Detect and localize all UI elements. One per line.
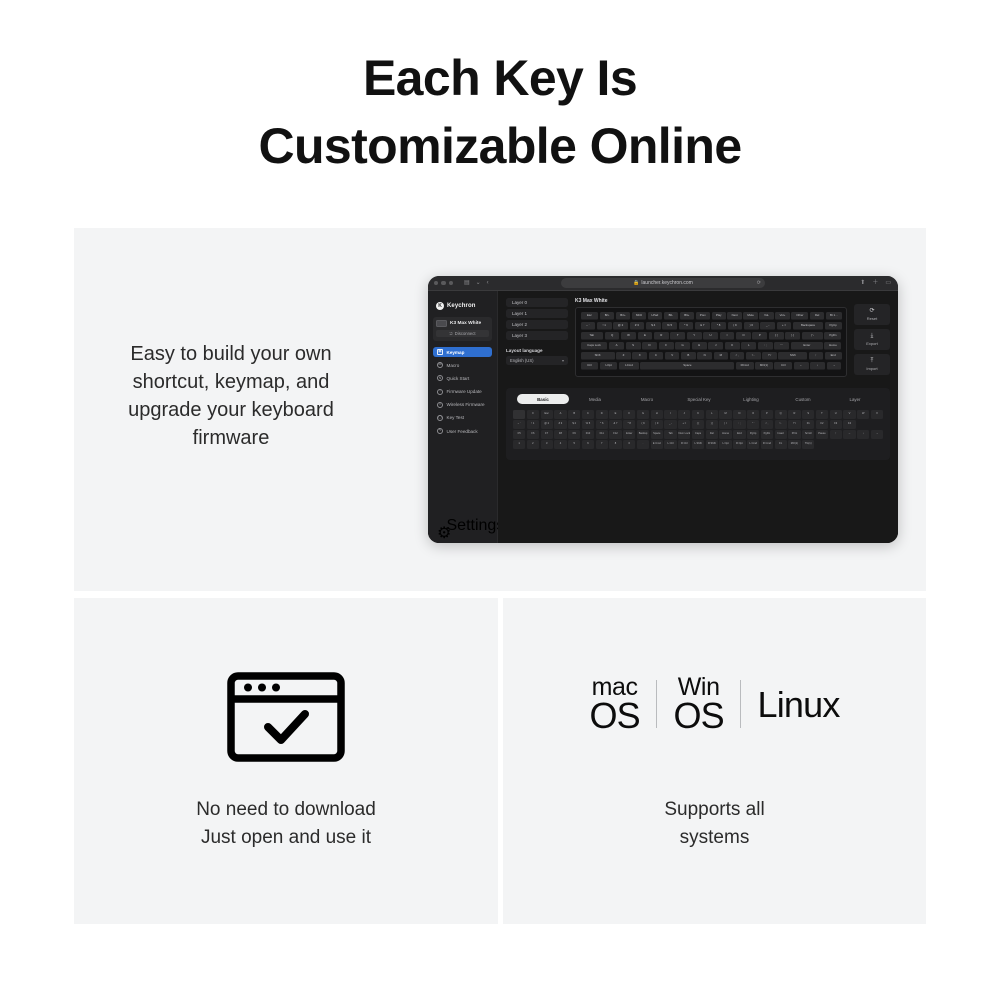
keyboard-key[interactable]: ( 9 — [728, 322, 743, 330]
sidebar-item-label: Firmware Update — [447, 389, 482, 394]
keyboard-key[interactable]: Mute — [743, 312, 757, 320]
keyboard-row: Caps LockASDFGHJKL: ;" 'EnterHome — [581, 342, 842, 350]
palette-key[interactable]: L Cmd — [747, 440, 759, 449]
keyboard-key[interactable]: RCmd — [736, 362, 754, 370]
palette-key[interactable]: F — [623, 410, 635, 419]
lock-icon: 🔒 — [633, 281, 639, 286]
palette-key[interactable]: . — [637, 440, 649, 449]
sidebar-item-firmware-update[interactable]: ↑Firmware Update — [433, 387, 492, 397]
palette-key[interactable]: E Cmd — [651, 440, 663, 449]
sidebar-item-label: Key Test — [447, 415, 465, 420]
import-button[interactable]: ⤒Import — [854, 354, 890, 375]
keyboard-key[interactable]: Play — [712, 312, 726, 320]
keyboard-key[interactable]: > . — [746, 352, 761, 360]
keyboard-key[interactable]: + = — [777, 322, 792, 330]
keyboard-key[interactable]: & 7 — [695, 322, 710, 330]
keyboard-thumb-icon — [436, 320, 447, 327]
palette-key[interactable]: J — [678, 410, 690, 419]
keyboard-key[interactable]: _ - — [760, 322, 775, 330]
palette-key[interactable]: R — [788, 410, 800, 419]
keyboard-key[interactable]: Enter — [791, 342, 823, 350]
keyboard-key[interactable]: Blt+ — [680, 312, 694, 320]
sidebar-item-macro[interactable]: MMacro — [433, 360, 492, 370]
keyboard-key[interactable]: ↓ — [810, 362, 825, 370]
keyboard-key[interactable]: { [ — [769, 332, 784, 340]
palette-key[interactable]: I — [664, 410, 676, 419]
keyboard-key[interactable]: @ 2 — [613, 322, 628, 330]
sidebar-item-keymap[interactable]: ▦Keymap — [433, 347, 492, 357]
keyboard-key[interactable]: J — [708, 342, 723, 350]
palette-key[interactable]: F10 — [582, 430, 594, 439]
palette-key[interactable]: & 7 — [609, 420, 621, 429]
os-support-caption-line-2: systems — [503, 824, 926, 852]
palette-key[interactable]: → — [871, 430, 883, 439]
palette-key[interactable]: Print — [788, 430, 800, 439]
tabs-icon[interactable]: ▭ — [885, 280, 891, 286]
palette-key-empty — [857, 440, 869, 449]
firmware-update-icon: ↑ — [437, 389, 443, 395]
palette-key[interactable]: C — [582, 410, 594, 419]
keyboard-key[interactable]: D — [642, 342, 657, 350]
palette-row: 0EscABCDEFGHIJKLMNOPQRSTUVWX — [513, 410, 883, 419]
browser-window-mock: ▤ ⌄ ‹ 🔒 launcher.keychron.com ⟳ ⬆ ＋ ▭ K … — [428, 276, 898, 543]
palette-key[interactable]: ↓ — [857, 430, 869, 439]
keyboard-view: K3 Max White EscBrt-Brt+MCtlLPadBlt-Blt+… — [575, 298, 847, 379]
os-support-caption: Supports all systems — [503, 796, 926, 852]
keyboard-key[interactable]: M — [714, 352, 729, 360]
page-title-line-1: Each Key Is — [363, 50, 637, 106]
palette-key[interactable]: ) 0 — [651, 420, 663, 429]
device-card: K3 Max White ⎋ Disconnect — [433, 317, 492, 341]
app-main: Layer 0Layer 1Layer 2Layer 3 Layout lang… — [498, 291, 898, 543]
palette-key[interactable]: Scroll — [802, 430, 814, 439]
keyboard-key[interactable]: Tab — [581, 332, 604, 340]
palette-key[interactable]: W — [857, 410, 869, 419]
launcher-caption: Easy to build your own shortcut, keymap,… — [96, 340, 366, 452]
os-divider-1 — [656, 680, 658, 728]
keyboard-key[interactable]: ? / — [762, 352, 777, 360]
sidebar-item-user-feedback[interactable]: ✎User Feedback — [433, 426, 492, 436]
layer-chip-label: Layer 2 — [512, 322, 527, 327]
palette-key[interactable]: L Ctrl — [664, 440, 676, 449]
palette-key[interactable]: R Shift — [706, 440, 718, 449]
keyboard-key[interactable]: X — [632, 352, 647, 360]
keyboard-key[interactable]: Backspace — [793, 322, 823, 330]
keyboard-key[interactable]: LPad — [648, 312, 662, 320]
keyboard-key[interactable]: Prev — [696, 312, 710, 320]
palette-key[interactable]: Backsp — [637, 430, 649, 439]
keyboard-layout[interactable]: EscBrt-Brt+MCtlLPadBlt-Blt+PrevPlayNextM… — [575, 307, 847, 377]
palette-key[interactable]: 7 — [596, 440, 608, 449]
palette-key[interactable]: " ' — [747, 420, 759, 429]
minimize-icon[interactable] — [441, 281, 445, 285]
keycode-palette: BasicMediaMacroSpecial KeyLightingCustom… — [506, 388, 890, 460]
layer-chip-1[interactable]: Layer 1 — [506, 309, 568, 318]
sidebar-item-wireless-firmware[interactable]: ≈Wireless Firmware — [433, 400, 492, 410]
layout-language-value: English (US) — [510, 358, 534, 363]
palette-key[interactable]: @ 2 — [541, 420, 553, 429]
tab-media[interactable]: Media — [569, 394, 621, 404]
keyboard-key[interactable]: U — [703, 332, 718, 340]
sidebar-item-label: Quick Start — [447, 376, 470, 381]
key-test-icon: ▢ — [437, 415, 443, 421]
palette-key[interactable]: Del — [706, 430, 718, 439]
palette-key[interactable]: ← — [843, 430, 855, 439]
palette-key[interactable]: 4 — [554, 440, 566, 449]
keyboard-key[interactable]: Next — [727, 312, 741, 320]
keyboard-key[interactable]: ) 0 — [744, 322, 759, 330]
keychron-logo-icon: K — [436, 302, 444, 310]
tab-lighting[interactable]: Lighting — [725, 394, 777, 404]
layer-chip-2[interactable]: Layer 2 — [506, 320, 568, 329]
keyboard-row: CtrlLOptLCmdSpaceRCmdMO(1)Ctrl←↓→ — [581, 362, 842, 370]
brand-name: Keychron — [447, 303, 475, 309]
palette-key[interactable]: > . — [775, 420, 787, 429]
keyboard-key[interactable]: G — [675, 342, 690, 350]
no-download-caption: No need to download Just open and use it — [74, 796, 498, 852]
os-logo-linux: Linux — [757, 688, 839, 721]
page-root: Each Key Is Customizable Online Easy to … — [0, 0, 1000, 1000]
palette-key[interactable]: ↑ — [830, 430, 842, 439]
palette-key-empty — [871, 440, 883, 449]
tab-special-key[interactable]: Special Key — [673, 394, 725, 404]
keyboard-key[interactable]: L — [741, 342, 756, 350]
os-logo-winos: Win OS — [673, 676, 723, 732]
palette-key[interactable]: T — [816, 410, 828, 419]
palette-key[interactable]: { [ — [692, 420, 704, 429]
close-icon[interactable] — [434, 281, 438, 285]
palette-key[interactable]: 6 — [582, 440, 594, 449]
address-bar[interactable]: 🔒 launcher.keychron.com ⟳ — [561, 278, 765, 288]
sidebar-item-key-test[interactable]: ▢Key Test — [433, 413, 492, 423]
reset-button[interactable]: ⟳Reset — [854, 304, 890, 325]
palette-key[interactable]: L Shift — [692, 440, 704, 449]
keymap-actions: ⟳Reset⤓Export⤒Import — [854, 298, 890, 379]
keyboard-key[interactable]: * 8 — [711, 322, 726, 330]
disconnect-icon: ⎋ — [449, 331, 452, 336]
browser-titlebar: ▤ ⌄ ‹ 🔒 launcher.keychron.com ⟳ ⬆ ＋ ▭ — [428, 276, 898, 291]
keyboard-key[interactable]: } ] — [785, 332, 800, 340]
keyboard-key[interactable]: P — [752, 332, 767, 340]
palette-key[interactable]: Enter — [623, 430, 635, 439]
palette-key[interactable]: B — [568, 410, 580, 419]
gear-icon: ⚙ — [437, 523, 443, 529]
keyboard-key[interactable]: Ctrl — [581, 362, 599, 370]
palette-key[interactable]: F5 — [513, 430, 525, 439]
os-support-caption-line-1: Supports all — [503, 796, 926, 824]
keyboard-key[interactable]: E — [638, 332, 653, 340]
palette-key[interactable]: Tab — [664, 430, 676, 439]
palette-key[interactable]: PgUp — [747, 430, 759, 439]
keyboard-key[interactable]: Z — [616, 352, 631, 360]
disconnect-button[interactable]: ⎋ Disconnect — [436, 330, 489, 337]
keyboard-key[interactable]: S — [626, 342, 641, 350]
palette-key-empty — [816, 440, 828, 449]
sidebar-nav: ▦KeymapMMacro↯Quick Start↑Firmware Updat… — [433, 347, 492, 436]
palette-key[interactable]: PgDn — [761, 430, 773, 439]
refresh-icon[interactable]: ⟳ — [757, 280, 761, 286]
keyboard-row: TabQWERTYUIOP{ [} ]| \PgDn — [581, 332, 842, 340]
device-name: K3 Max White — [450, 321, 481, 326]
keyboard-key[interactable]: Y — [687, 332, 702, 340]
keyboard-key[interactable]: Vol+ — [775, 312, 789, 320]
layer-chip-label: Layer 0 — [512, 300, 527, 305]
palette-key[interactable]: P — [761, 410, 773, 419]
keyboard-key[interactable]: Home — [824, 342, 841, 350]
tab-basic[interactable]: Basic — [517, 394, 569, 404]
layer-chip-0[interactable]: Layer 0 — [506, 298, 568, 307]
os-logo-winos-large: OS — [673, 699, 723, 732]
sidebar-item-label: User Feedback — [447, 429, 478, 434]
keyboard-title: K3 Max White — [575, 298, 847, 304]
reset-icon: ⟳ — [869, 308, 874, 314]
keyboard-key[interactable]: Brt- — [600, 312, 614, 320]
palette-key[interactable]: G — [637, 410, 649, 419]
keyboard-key[interactable]: < , — [730, 352, 745, 360]
palette-key[interactable]: Fn — [775, 440, 787, 449]
palette-key[interactable]: R Ctrl — [678, 440, 690, 449]
palette-key[interactable]: F3 — [830, 420, 842, 429]
keyboard-key[interactable]: C — [649, 352, 664, 360]
macro-icon: M — [437, 362, 443, 368]
palette-key[interactable]: # 3 — [554, 420, 566, 429]
palette-key[interactable]: D — [596, 410, 608, 419]
palette-keys[interactable]: 0EscABCDEFGHIJKLMNOPQRSTUVWX~ `! 1@ 2# 3… — [513, 410, 883, 449]
keyboard-key[interactable]: H — [692, 342, 707, 350]
palette-key[interactable]: Caps — [692, 430, 704, 439]
sidebar-item-label: Wireless Firmware — [447, 402, 485, 407]
palette-key[interactable]: E — [609, 410, 621, 419]
chevron-down-icon: ▾ — [562, 358, 564, 363]
layer-list: Layer 0Layer 1Layer 2Layer 3 — [506, 298, 568, 340]
palette-key[interactable]: X — [871, 410, 883, 419]
keyboard-key[interactable]: End — [825, 352, 842, 360]
keyboard-key[interactable]: → — [827, 362, 842, 370]
palette-key[interactable]: R Opt — [733, 440, 745, 449]
os-logo-linux-large: Linux — [757, 688, 839, 721]
tab-macro[interactable]: Macro — [621, 394, 673, 404]
keyboard-row: EscBrt-Brt+MCtlLPadBlt-Blt+PrevPlayNextM… — [581, 312, 842, 320]
keyboard-key[interactable]: Q — [605, 332, 620, 340]
feature-card-os-support — [503, 598, 926, 924]
keyboard-key[interactable]: A — [609, 342, 624, 350]
keyboard-key[interactable]: V — [665, 352, 680, 360]
keyboard-key[interactable]: # 3 — [630, 322, 645, 330]
palette-key[interactable]: MO(1) — [788, 440, 800, 449]
import-icon: ⤒ — [871, 358, 874, 364]
palette-row: ~ `! 1@ 2# 3$ 4% 5^ 6& 7* 8( 9) 0_ -+ ={… — [513, 420, 883, 429]
palette-key[interactable]: 5 — [568, 440, 580, 449]
keyboard-key[interactable]: Esc — [581, 312, 599, 320]
layer-chip-3[interactable]: Layer 3 — [506, 331, 568, 340]
palette-key-empty — [830, 440, 842, 449]
user-feedback-icon: ✎ — [437, 428, 443, 434]
palette-key[interactable]: _ - — [664, 420, 676, 429]
palette-key[interactable]: Pause — [816, 430, 828, 439]
share-icon[interactable]: ⬆ — [860, 280, 865, 286]
palette-key[interactable]: Num Lock — [678, 430, 690, 439]
palette-key[interactable]: < , — [761, 420, 773, 429]
palette-key[interactable]: Space — [651, 430, 663, 439]
sidebar-item-quick-start[interactable]: ↯Quick Start — [433, 373, 492, 383]
keyboard-key[interactable]: MO(1) — [755, 362, 773, 370]
keyboard-key[interactable]: | \ — [802, 332, 823, 340]
keyboard-key[interactable]: Caps Lock — [581, 342, 608, 350]
keyboard-key[interactable]: ^ 6 — [679, 322, 694, 330]
palette-key[interactable]: V — [843, 410, 855, 419]
palette-key[interactable]: End — [733, 430, 745, 439]
keyboard-key[interactable]: R — [654, 332, 669, 340]
no-download-caption-line-2: Just open and use it — [74, 824, 498, 852]
palette-key[interactable]: 0 — [623, 440, 635, 449]
palette-key[interactable]: H — [651, 410, 663, 419]
palette-key[interactable]: 8 — [609, 440, 621, 449]
wireless-firmware-icon: ≈ — [437, 402, 443, 408]
maximize-icon[interactable] — [449, 281, 453, 285]
palette-key[interactable]: 2 — [527, 440, 539, 449]
os-logo-row: mac OS Win OS Linux — [503, 676, 926, 732]
palette-key[interactable]: ( 9 — [637, 420, 649, 429]
keymap-icon: ▦ — [437, 349, 443, 355]
chevron-down-icon[interactable]: ⌄ — [476, 280, 481, 286]
export-icon: ⤓ — [871, 333, 874, 339]
os-logo-macos-large: OS — [589, 699, 639, 732]
palette-key[interactable]: | \ — [719, 420, 731, 429]
palette-key[interactable]: + = — [678, 420, 690, 429]
palette-key[interactable]: ^ 6 — [596, 420, 608, 429]
palette-key[interactable]: F1 — [802, 420, 814, 429]
os-logo-macos: mac OS — [589, 676, 639, 732]
palette-tabs: BasicMediaMacroSpecial KeyLightingCustom… — [513, 394, 883, 404]
palette-key[interactable]: F11 — [596, 430, 608, 439]
disconnect-label: Disconnect — [455, 331, 476, 336]
palette-key[interactable]: ~ ` — [513, 420, 525, 429]
keyboard-key[interactable]: Ctrl — [774, 362, 792, 370]
palette-key[interactable]: A — [554, 410, 566, 419]
palette-key[interactable]: } ] — [706, 420, 718, 429]
keyboard-key[interactable]: K — [725, 342, 740, 350]
palette-key[interactable]: 3 — [541, 440, 553, 449]
keyboard-key[interactable]: T — [670, 332, 685, 340]
palette-row: F5F6F7F8F9F10F11F12EnterBackspSpaceTabNu… — [513, 430, 883, 439]
palette-key[interactable]: O — [747, 410, 759, 419]
keyboard-key[interactable]: : ; — [758, 342, 773, 350]
palette-key[interactable]: : ; — [733, 420, 745, 429]
palette-key[interactable]: F6 — [527, 430, 539, 439]
palette-key[interactable]: TG(1) — [802, 440, 814, 449]
keyboard-key[interactable]: LCmd — [619, 362, 639, 370]
layout-language-title: Layout language — [506, 348, 568, 353]
palette-key[interactable]: F2 — [816, 420, 828, 429]
keyboard-key[interactable]: W — [621, 332, 636, 340]
tab-custom[interactable]: Custom — [777, 394, 829, 404]
palette-key[interactable]: F9 — [568, 430, 580, 439]
sidebar-item-label: Macro — [447, 363, 460, 368]
keyboard-key[interactable]: " ' — [774, 342, 789, 350]
keyboard-key[interactable]: Brt+ — [616, 312, 630, 320]
palette-key[interactable]: S — [802, 410, 814, 419]
palette-key[interactable]: ? / — [788, 420, 800, 429]
export-button[interactable]: ⤓Export — [854, 329, 890, 350]
keyboard-key[interactable]: Other — [791, 312, 808, 320]
keyboard-key[interactable]: Shift — [778, 352, 807, 360]
palette-key[interactable]: Esc — [541, 410, 553, 419]
browser-window-check-icon — [227, 672, 345, 767]
palette-key[interactable]: U — [830, 410, 842, 419]
palette-key[interactable]: $ 4 — [568, 420, 580, 429]
keyboard-key[interactable]: $ 4 — [646, 322, 661, 330]
plus-icon[interactable]: ＋ — [872, 280, 878, 286]
palette-key[interactable]: Insert — [775, 430, 787, 439]
keyboard-key[interactable]: Shift — [581, 352, 615, 360]
tab-layer[interactable]: Layer — [829, 394, 881, 404]
page-title-line-2: Customizable Online — [0, 112, 1000, 180]
launcher-app: K Keychron K3 Max White ⎋ Disconnect ▦Ke… — [428, 291, 898, 543]
keyboard-key[interactable]: PgDn — [824, 332, 841, 340]
palette-key[interactable]: L Opt — [719, 440, 731, 449]
import-button-label: Import — [866, 366, 877, 371]
palette-key[interactable]: * 8 — [623, 420, 635, 429]
palette-key[interactable]: F8 — [554, 430, 566, 439]
address-bar-url: launcher.keychron.com — [641, 281, 692, 286]
keyboard-key[interactable]: Blt- — [664, 312, 678, 320]
palette-key[interactable]: F12 — [609, 430, 621, 439]
palette-key[interactable]: 1 — [513, 440, 525, 449]
keyboard-key[interactable]: Space — [640, 362, 734, 370]
palette-key[interactable]: % 5 — [582, 420, 594, 429]
keyboard-key[interactable]: B — [681, 352, 696, 360]
export-button-label: Export — [866, 341, 878, 346]
sidebar-icon[interactable]: ▤ — [464, 280, 470, 286]
palette-key[interactable]: Home — [719, 430, 731, 439]
keyboard-key[interactable]: % 5 — [662, 322, 677, 330]
keyboard-key[interactable]: F — [659, 342, 674, 350]
keyboard-key[interactable]: ← — [794, 362, 809, 370]
keyboard-key[interactable]: N — [697, 352, 712, 360]
palette-key[interactable]: 0 — [527, 410, 539, 419]
keyboard-key[interactable]: I — [720, 332, 735, 340]
palette-key[interactable] — [513, 410, 525, 419]
keyboard-key[interactable]: MCtl — [632, 312, 646, 320]
keyboard-key[interactable]: ↑ — [809, 352, 824, 360]
palette-key[interactable]: F7 — [541, 430, 553, 439]
palette-key[interactable]: R Cmd — [761, 440, 773, 449]
sidebar-item-label-settings: Settings — [447, 517, 505, 535]
page-title: Each Key Is Customizable Online — [0, 44, 1000, 180]
palette-key[interactable]: K — [692, 410, 704, 419]
window-controls[interactable] — [434, 281, 453, 285]
palette-key[interactable]: ! 1 — [527, 420, 539, 429]
palette-key[interactable]: F4 — [843, 420, 855, 429]
layout-language-select[interactable]: English (US) ▾ — [506, 356, 568, 365]
palette-key[interactable]: Q — [775, 410, 787, 419]
keyboard-key[interactable]: Del — [810, 312, 824, 320]
palette-key[interactable]: L — [706, 410, 718, 419]
keyboard-key[interactable]: O — [736, 332, 751, 340]
palette-key[interactable]: M — [719, 410, 731, 419]
keyboard-key[interactable]: PgUp — [825, 322, 842, 330]
keyboard-key[interactable]: Vol- — [759, 312, 773, 320]
keyboard-key[interactable]: ! 1 — [597, 322, 612, 330]
palette-key[interactable]: N — [733, 410, 745, 419]
quick-start-icon: ↯ — [437, 375, 443, 381]
keyboard-key[interactable]: Bt 1... — [826, 312, 842, 320]
keyboard-key[interactable]: LOpt — [600, 362, 618, 370]
keyboard-key[interactable]: ~ ` — [581, 322, 596, 330]
layer-chip-label: Layer 3 — [512, 333, 527, 338]
chevron-left-icon[interactable]: ‹ — [487, 280, 489, 286]
no-download-caption-line-1: No need to download — [74, 796, 498, 824]
